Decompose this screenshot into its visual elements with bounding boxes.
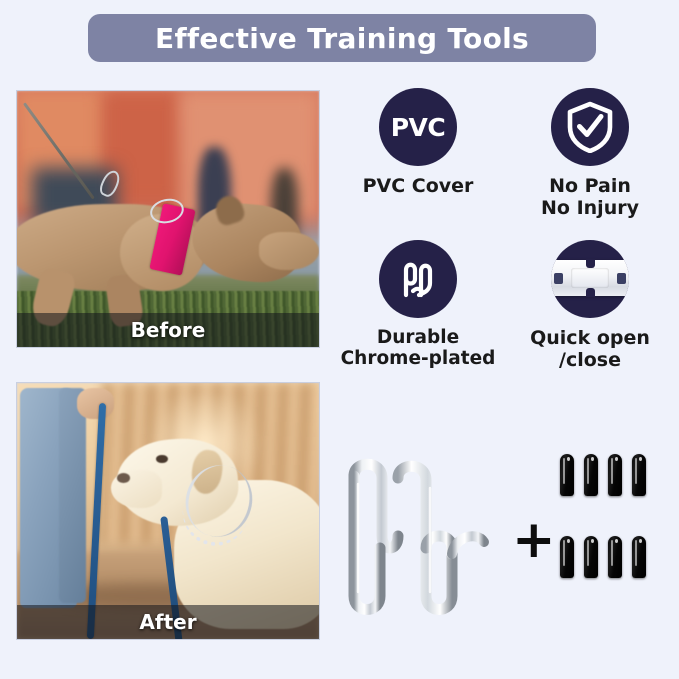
rubber-tip-row	[560, 454, 672, 496]
shield-check-icon	[551, 88, 629, 166]
rubber-tip	[584, 536, 598, 578]
after-caption-bar: After	[17, 605, 319, 639]
feature-label-quick-open-close: Quick open /close	[504, 327, 676, 371]
feature-durable-chrome: Durable Chrome-plated	[332, 240, 504, 370]
rubber-tip	[584, 454, 598, 496]
buckle-slot-left	[554, 273, 562, 284]
before-caption: Before	[131, 318, 206, 342]
feature-label-pvc-cover: PVC Cover	[332, 175, 504, 197]
before-dog-muzzle	[259, 232, 319, 270]
after-photo: After	[16, 382, 320, 640]
infographic-root: Effective Training Tools Befo	[0, 0, 679, 679]
rubber-tip	[632, 454, 646, 496]
buckle-slot-right	[617, 273, 625, 284]
feature-label-durable-chrome: Durable Chrome-plated	[332, 327, 504, 370]
feature-no-pain: No Pain No Injury	[504, 88, 676, 219]
rubber-tip-icon	[560, 454, 672, 604]
after-caption: After	[139, 610, 196, 634]
pvc-badge-label: PVC	[391, 113, 446, 142]
rubber-tip	[560, 536, 574, 578]
buckle-notch-bottom	[586, 288, 594, 297]
rubber-tip	[608, 536, 622, 578]
after-handler-hand	[77, 388, 113, 419]
rubber-tip	[608, 454, 622, 496]
buckle-center	[571, 268, 608, 288]
quick-buckle-icon	[551, 240, 629, 318]
feature-quick-open-close: Quick open /close	[504, 240, 676, 371]
buckle-notch-top	[586, 259, 594, 268]
product-contents: +	[332, 418, 676, 668]
before-caption-bar: Before	[17, 313, 319, 347]
feature-grid: PVC PVC Cover No Pain No Injury	[332, 88, 676, 388]
plus-symbol: +	[512, 514, 556, 566]
feature-label-no-pain: No Pain No Injury	[504, 175, 676, 219]
after-dog-nose	[117, 473, 131, 483]
page-title: Effective Training Tools	[155, 22, 529, 55]
rubber-tip	[560, 454, 574, 496]
rubber-tip-row	[560, 536, 672, 578]
before-photo: Before	[16, 90, 320, 348]
buckle-body	[551, 260, 629, 296]
after-handler-leg-two	[59, 388, 86, 603]
feature-pvc-cover: PVC PVC Cover	[332, 88, 504, 197]
after-photo-scene	[17, 383, 319, 639]
page-title-banner: Effective Training Tools	[88, 14, 596, 62]
before-photo-scene	[17, 91, 319, 347]
pvc-badge-icon: PVC	[379, 88, 457, 166]
prong-collar-link-icon	[338, 436, 498, 636]
rubber-tip	[632, 536, 646, 578]
chain-link-icon	[379, 240, 457, 318]
